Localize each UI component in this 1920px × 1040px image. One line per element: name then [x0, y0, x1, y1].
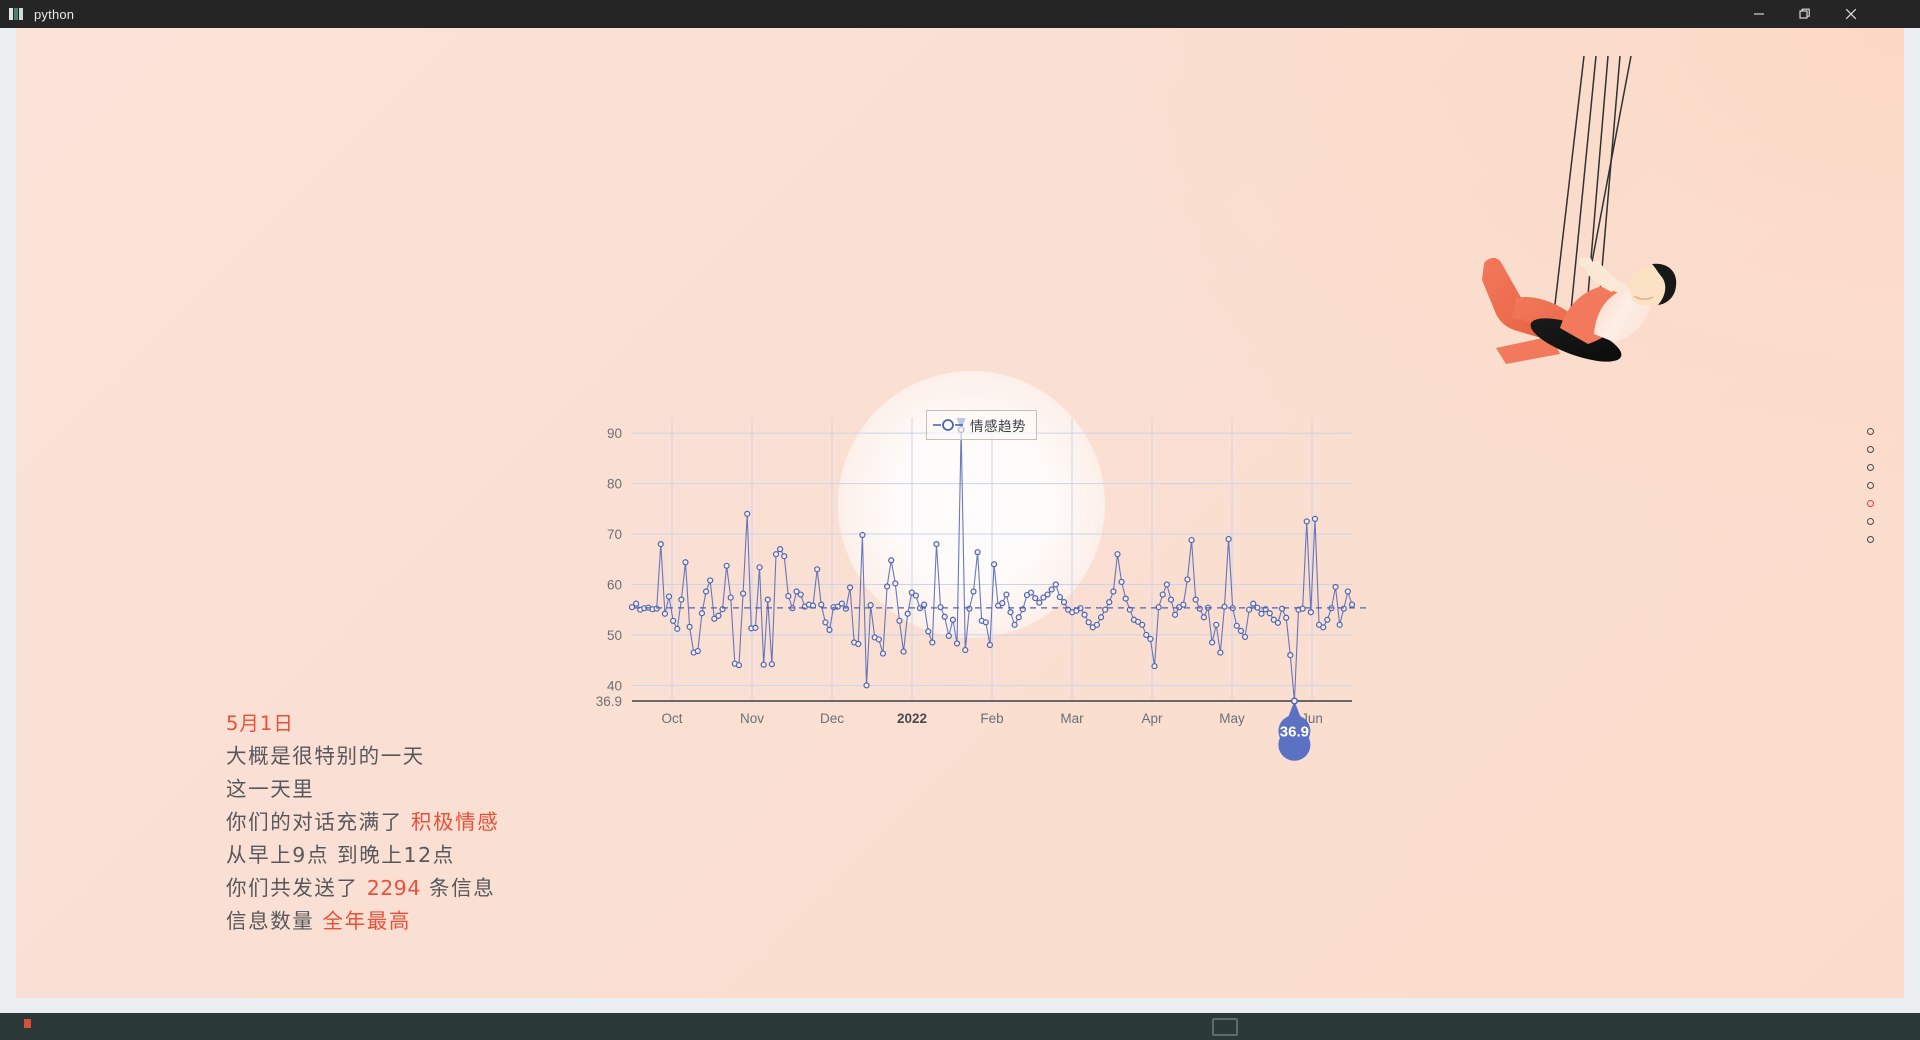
- data-point-marker: [695, 649, 700, 654]
- x-axis-tick-label: Apr: [1141, 711, 1163, 726]
- data-point-marker: [864, 683, 869, 688]
- data-point-marker: [856, 641, 861, 646]
- data-point-marker: [662, 611, 667, 616]
- data-point-marker: [654, 606, 659, 611]
- data-point-marker: [1234, 623, 1239, 628]
- data-point-marker: [946, 633, 951, 638]
- data-point-marker: [843, 606, 848, 611]
- data-point-marker: [1119, 579, 1124, 584]
- data-point-marker: [658, 542, 663, 547]
- data-point-marker: [1045, 592, 1050, 597]
- x-axis-tick-label: Dec: [820, 711, 844, 726]
- story-line-5-post: 条信息: [421, 876, 495, 900]
- data-point-marker: [880, 651, 885, 656]
- data-point-marker: [901, 649, 906, 654]
- data-point-marker: [1243, 634, 1248, 639]
- data-point-marker: [716, 613, 721, 618]
- y-axis-tick-label: 60: [607, 577, 622, 592]
- data-point-marker: [815, 567, 820, 572]
- data-point-marker: [1016, 615, 1021, 620]
- page-dot-4[interactable]: [1867, 482, 1874, 489]
- data-point-marker: [1000, 601, 1005, 606]
- svg-text:36.9: 36.9: [1280, 724, 1309, 741]
- data-point-marker: [675, 626, 680, 631]
- data-point-marker: [1099, 615, 1104, 620]
- data-point-marker: [1181, 602, 1186, 607]
- data-point-marker: [683, 560, 688, 565]
- data-point-marker: [942, 614, 947, 619]
- data-point-marker: [699, 611, 704, 616]
- min-value-pin: 36.9: [1278, 698, 1310, 761]
- data-point-marker: [1160, 592, 1165, 597]
- page-dot-6[interactable]: [1867, 518, 1874, 525]
- page-indicator-dots[interactable]: [1867, 428, 1874, 543]
- story-line-2: 这一天里: [226, 777, 314, 801]
- data-point-marker: [1111, 589, 1116, 594]
- x-axis-tick-label: Feb: [980, 711, 1003, 726]
- data-point-marker: [1094, 622, 1099, 627]
- data-point-marker: [1312, 516, 1317, 521]
- data-point-marker: [1259, 611, 1264, 616]
- data-point-marker: [774, 552, 779, 557]
- data-point-marker: [1300, 606, 1305, 611]
- data-point-marker: [1148, 636, 1153, 641]
- data-point-marker: [868, 603, 873, 608]
- data-point-marker: [728, 595, 733, 600]
- data-point-marker: [848, 585, 853, 590]
- swing-hand: [1579, 257, 1589, 267]
- story-line-3-pre: 你们的对话充满了: [226, 810, 411, 834]
- y-axis-tick-label: 70: [607, 527, 622, 542]
- data-point-marker: [1144, 632, 1149, 637]
- data-point-marker: [1173, 612, 1178, 617]
- data-point-marker: [950, 617, 955, 622]
- person-on-swing-illustration: [1456, 48, 1686, 368]
- data-point-marker: [1267, 611, 1272, 616]
- data-point-marker: [1049, 587, 1054, 592]
- taskbar[interactable]: [0, 1013, 1920, 1040]
- data-point-marker: [708, 578, 713, 583]
- data-point-marker: [983, 620, 988, 625]
- data-point-marker: [1333, 584, 1338, 589]
- x-axis-tick-label: May: [1219, 711, 1245, 726]
- data-point-marker: [889, 558, 894, 563]
- story-line-6-pre: 信息数量: [226, 909, 323, 933]
- data-point-marker: [885, 584, 890, 589]
- data-point-marker: [1012, 622, 1017, 627]
- data-point-marker: [1210, 640, 1215, 645]
- y-axis-tick-label: 40: [607, 678, 622, 693]
- data-point-marker: [930, 640, 935, 645]
- data-point-marker: [1341, 606, 1346, 611]
- data-point-marker: [1275, 620, 1280, 625]
- data-point-marker: [634, 601, 639, 606]
- application-window: python: [0, 0, 1920, 1040]
- data-point-marker: [798, 592, 803, 597]
- data-point-marker: [704, 589, 709, 594]
- data-point-marker: [893, 581, 898, 586]
- data-point-marker: [1193, 597, 1198, 602]
- data-point-marker: [963, 648, 968, 653]
- x-axis-tick-label: Nov: [740, 711, 764, 726]
- story-line-6-accent: 全年最高: [323, 909, 411, 933]
- data-point-marker: [1350, 602, 1355, 607]
- data-point-marker: [823, 620, 828, 625]
- data-point-marker: [1325, 617, 1330, 622]
- data-point-marker: [1029, 590, 1034, 595]
- data-point-marker: [819, 602, 824, 607]
- data-point-marker: [971, 589, 976, 594]
- data-point-marker: [1115, 552, 1120, 557]
- data-point-marker: [769, 662, 774, 667]
- data-point-marker: [1107, 600, 1112, 605]
- x-axis-tick-label: Mar: [1060, 711, 1084, 726]
- data-point-marker: [922, 602, 927, 607]
- close-icon[interactable]: [1828, 0, 1874, 28]
- data-point-marker: [1304, 519, 1309, 524]
- data-point-marker: [1103, 607, 1108, 612]
- data-point-marker: [1164, 582, 1169, 587]
- data-point-marker: [1008, 610, 1013, 615]
- data-point-marker: [1218, 650, 1223, 655]
- data-point-marker: [745, 511, 750, 516]
- data-point-marker: [1238, 628, 1243, 633]
- data-point-marker: [1251, 601, 1256, 606]
- data-point-marker: [975, 550, 980, 555]
- data-point-marker: [905, 611, 910, 616]
- story-date: 5月1日: [226, 712, 294, 735]
- data-point-marker: [839, 601, 844, 606]
- data-point-marker: [1082, 612, 1087, 617]
- data-point-marker: [1201, 615, 1206, 620]
- data-point-marker: [1308, 610, 1313, 615]
- data-point-marker: [1037, 600, 1042, 605]
- data-point-marker: [1086, 620, 1091, 625]
- data-point-marker: [1057, 595, 1062, 600]
- data-point-marker: [955, 641, 960, 646]
- data-point-marker: [667, 594, 672, 599]
- data-point-marker: [1168, 597, 1173, 602]
- data-point-marker: [736, 663, 741, 668]
- data-point-marker: [938, 605, 943, 610]
- data-point-marker: [992, 562, 997, 567]
- data-point-marker: [1156, 605, 1161, 610]
- data-point-marker: [897, 618, 902, 623]
- data-point-marker: [1004, 592, 1009, 597]
- data-point-marker: [724, 563, 729, 568]
- data-point-marker: [1189, 538, 1194, 543]
- desktop-gap: [0, 998, 1920, 1013]
- y-axis-tick-label: 36.9: [596, 694, 622, 709]
- sentiment-trend-chart: 36.9405060708090OctNovDec2022FebMarAprMa…: [576, 418, 1366, 858]
- restore-icon[interactable]: [1782, 0, 1828, 28]
- window-titlebar[interactable]: python: [0, 0, 1920, 28]
- data-point-marker: [1152, 664, 1157, 669]
- data-point-marker: [1140, 622, 1145, 627]
- data-point-marker: [765, 597, 770, 602]
- data-point-marker: [1123, 596, 1128, 601]
- story-line-5-pre: 你们共发送了: [226, 876, 367, 900]
- minimize-icon[interactable]: [1736, 0, 1782, 28]
- data-point-marker: [757, 565, 762, 570]
- page-dot-3[interactable]: [1867, 464, 1874, 471]
- page-dot-7[interactable]: [1867, 536, 1874, 543]
- y-axis-tick-label: 50: [607, 628, 622, 643]
- chart-legend[interactable]: 情感趋势: [926, 410, 1037, 440]
- data-point-marker: [1197, 606, 1202, 611]
- data-point-marker: [782, 554, 787, 559]
- data-point-marker: [1226, 537, 1231, 542]
- data-point-marker: [876, 637, 881, 642]
- data-point-marker: [827, 627, 832, 632]
- data-point-marker: [753, 625, 758, 630]
- data-point-marker: [1185, 577, 1190, 582]
- python-window-icon: [8, 6, 24, 22]
- visualization-canvas: 5月1日 大概是很特别的一天 这一天里 你们的对话充满了 积极情感 从早上9点 …: [16, 28, 1904, 1013]
- data-point-marker: [934, 542, 939, 547]
- data-point-marker: [913, 593, 918, 598]
- taskbar-app-icon[interactable]: [24, 1019, 31, 1028]
- line-circle-marker-icon: [933, 418, 963, 432]
- data-point-marker: [1321, 625, 1326, 630]
- y-axis-tick-label: 90: [607, 426, 622, 441]
- data-point-marker: [761, 662, 766, 667]
- data-point-marker: [671, 618, 676, 623]
- x-axis-tick-label: 2022: [897, 711, 927, 726]
- data-point-marker: [687, 624, 692, 629]
- data-point-marker: [967, 606, 972, 611]
- page-dot-5-active[interactable]: [1867, 500, 1874, 507]
- data-point-marker: [1284, 615, 1289, 620]
- data-point-marker: [926, 629, 931, 634]
- page-dot-2[interactable]: [1867, 446, 1874, 453]
- data-point-marker: [1345, 589, 1350, 594]
- y-axis-tick-label: 80: [607, 477, 622, 492]
- data-point-marker: [1288, 653, 1293, 658]
- data-point-marker: [741, 591, 746, 596]
- data-point-marker: [778, 547, 783, 552]
- story-message-count: 2294: [367, 876, 421, 900]
- data-point-marker: [1280, 606, 1285, 611]
- data-point-marker: [1053, 582, 1058, 587]
- legend-label: 情感趋势: [970, 415, 1026, 435]
- data-point-marker: [1062, 600, 1067, 605]
- data-point-marker: [679, 597, 684, 602]
- story-line-4: 从早上9点 到晚上12点: [226, 843, 455, 867]
- data-point-marker: [1337, 622, 1342, 627]
- x-axis-tick-label: Oct: [661, 711, 682, 726]
- window-title: python: [34, 7, 74, 22]
- taskbar-window-icon[interactable]: [1212, 1018, 1238, 1036]
- data-point-marker: [860, 533, 865, 538]
- data-point-marker: [1033, 596, 1038, 601]
- page-dot-1[interactable]: [1867, 428, 1874, 435]
- chart-svg: 36.9405060708090OctNovDec2022FebMarAprMa…: [576, 418, 1366, 858]
- data-point-marker: [987, 643, 992, 648]
- story-line-1: 大概是很特别的一天: [226, 744, 425, 768]
- data-point-marker: [1214, 622, 1219, 627]
- story-line-3-accent: 积极情感: [411, 810, 499, 834]
- data-point-marker: [786, 594, 791, 599]
